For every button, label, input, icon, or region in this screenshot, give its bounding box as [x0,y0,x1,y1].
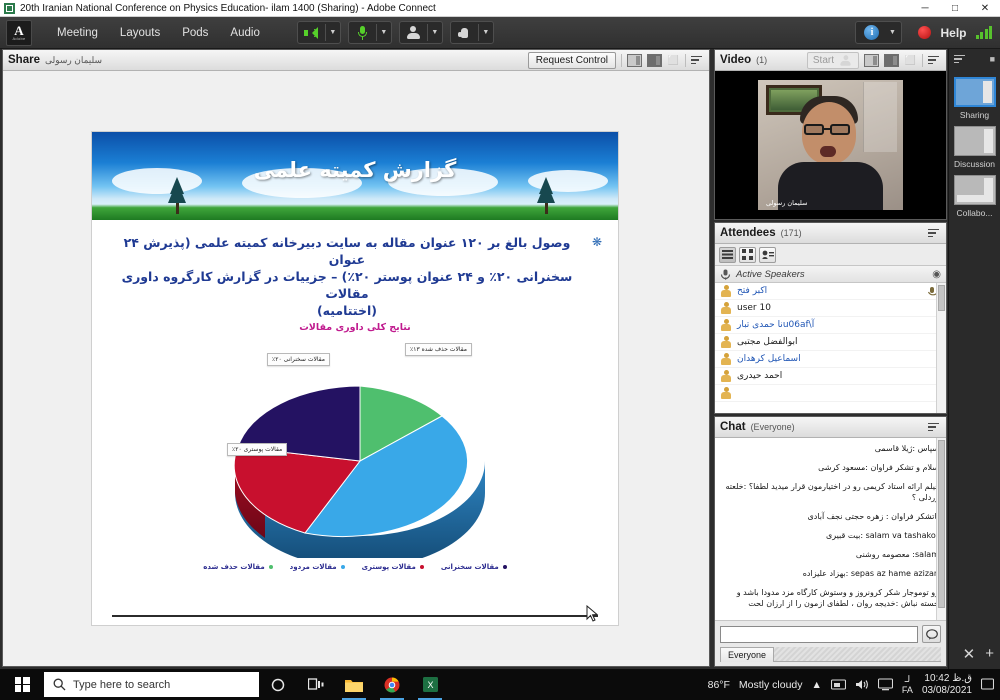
share-pod-header-controls: Request Control ⬜ [528,52,704,69]
layout-rail: ■ Sharing Discussion Collabo... ✕ + [948,49,1000,669]
chat-input-row [720,625,941,643]
menu-pods[interactable]: Pods [171,22,219,44]
search-placeholder: Type here to search [73,679,170,691]
chat-pod-header-controls [928,421,941,434]
window-title: 20th Iranian National Conference on Phys… [20,3,910,14]
close-icon[interactable]: ◉ [932,269,941,280]
attendees-pod-title: Attendees [720,227,776,239]
clock-date: 03/08/2021 [922,685,972,697]
start-camera-button[interactable]: Start [807,52,859,69]
attendee-name: user 10 [737,303,771,313]
share-pod-menu-icon[interactable] [691,54,704,67]
action-center-icon[interactable] [981,678,994,691]
attendees-toolbar [715,244,946,266]
chat-message: باتشکر فراوان : زهره حجتی نجف آبادی [722,511,939,522]
microphone-icon [720,269,731,280]
layout-label: Discussion [954,159,996,169]
participant-icon [721,353,731,365]
chart-caption: نتایج کلی داوری مقالات [108,322,602,333]
list-item[interactable]: آ\u06afنا حمدی تبار [715,317,946,334]
close-button[interactable]: ✕ [970,0,1000,17]
chat-message: فیلم ارائه استاد کریمی رو در اختیارمون ق… [722,481,939,503]
camera-dropdown-chevron-down-icon[interactable]: ▼ [428,22,442,43]
attendee-name: احمد حیدری [737,371,782,381]
chat-tab-strip: Everyone [720,647,941,662]
video-pod: Video (1) Start ⬜ [714,49,947,220]
minimize-button[interactable]: ─ [910,0,940,17]
participant-icon [721,285,731,297]
chat-message-list[interactable]: سپاس :ژیلا قاسمی سلام و تشکر فراوان :مسع… [715,438,946,620]
chat-pod-title: Chat [720,421,746,433]
status-view-icon[interactable] [759,247,776,263]
keyboard-layout-indicator[interactable]: لـ FA [902,674,913,696]
file-explorer-icon[interactable] [335,669,373,700]
start-camera-label: Start [813,55,834,66]
chat-message: sepas az hame azizan :بهزاد علیزاده [722,568,939,579]
adobe-connect-window: 20th Iranian National Conference on Phys… [0,0,1000,700]
layout-label: Collabo... [954,208,996,218]
layout-item-sharing[interactable]: Sharing [954,77,996,120]
list-item[interactable]: ابوالفضل مجتبی [715,334,946,351]
slide-bullet-text: وصول بالغ بر ۱۲۰ عنوان مقاله به سایت دبی… [108,234,586,319]
microphone-button[interactable] [349,22,376,43]
adobe-logo-icon: A Adobe [6,20,32,46]
slide-bullet: ❋ وصول بالغ بر ۱۲۰ عنوان مقاله به سایت د… [108,234,602,319]
excel-icon[interactable]: X [411,669,449,700]
chat-pod: Chat (Everyone) سپاس :ژیلا قاسمی سلام و … [714,416,947,667]
help-menu[interactable]: Help [940,26,966,40]
chat-input[interactable] [720,626,918,643]
bullet-line-1: وصول بالغ بر ۱۲۰ عنوان مقاله به سایت دبی… [108,234,586,268]
video-pod-header-controls: Start ⬜ [807,52,941,69]
menu-bar-right-group: i ▼ Help [855,21,992,44]
fit-width-icon[interactable] [627,54,642,67]
chart-legend: مقالات سخنرانی مقالات پوستری مقالات مردو… [92,563,618,571]
fullscreen-icon[interactable]: ⬜ [667,54,680,67]
active-speakers-label: Active Speakers [736,269,805,280]
webcam-icon [840,55,852,65]
volume-icon[interactable] [855,678,869,691]
legend-item-poster: مقالات پوستری [362,563,424,571]
grid-view-icon[interactable] [864,54,879,67]
info-button[interactable]: i [858,22,885,43]
start-button[interactable] [0,669,44,700]
list-item[interactable] [715,385,946,402]
fullscreen-icon[interactable]: ⬜ [904,54,917,67]
attendees-list[interactable]: اکبر فتح user 10 آ\u06afنا حمدی تبار ابو… [715,283,946,413]
onedrive-icon[interactable] [831,679,846,690]
network-icon[interactable] [878,678,893,691]
grid-view-icon[interactable] [739,247,756,263]
app-icon [4,3,15,14]
list-item[interactable]: اسماعیل کرهدان [715,351,946,368]
connection-status-icon[interactable] [976,26,993,39]
participant-icon [721,336,731,348]
legend-item-removed: مقالات حذف شده [203,563,272,571]
video-pod-title: Video [720,54,751,66]
close-rail-icon[interactable]: ■ [990,54,995,64]
active-speakers-bar: Active Speakers ◉ [715,266,946,283]
participant-icon [721,370,731,382]
webcam-icon [406,26,421,39]
info-icon: i [864,25,879,40]
share-pod: Share سلیمان رسولی Request Control ⬜ [2,49,710,667]
send-message-button[interactable] [922,625,941,643]
chat-message: سپاس :ژیلا قاسمی [722,443,939,454]
speaker-dropdown-chevron-down-icon[interactable]: ▼ [326,22,340,43]
raise-hand-control-group: ▼ [450,21,494,44]
camera-button[interactable] [400,22,427,43]
legend-label: مقالات مردود [290,563,337,571]
attendee-name: ابوالفضل مجتبی [737,337,798,347]
webcam-feed: سلیمان رسولی [758,80,903,210]
clock-time: 10:42 ق.ظ [922,673,972,685]
layout-item-discussion[interactable]: Discussion [954,126,996,169]
layout-thumbnail [954,126,996,156]
windows-logo-icon [15,677,30,692]
microphone-control-group: ▼ [348,21,392,44]
attendee-name: اسماعیل کرهدان [737,354,801,364]
menu-layouts[interactable]: Layouts [109,22,171,44]
video-pod-count: (1) [756,55,767,65]
pie-label-poster: مقالات پوستری ۲۰٪ [227,443,287,456]
bullet-line-3: (اختتامیه) [108,302,586,319]
participant-icon [721,319,731,331]
video-speaker-name: سلیمان رسولی [766,199,807,207]
info-dropdown-chevron-down-icon[interactable]: ▼ [885,22,899,43]
layout-thumbnail [954,175,996,205]
layout-rail-menu-icon[interactable] [954,53,967,66]
microphone-icon [358,26,367,40]
window-title-bar: 20th Iranian National Conference on Phys… [0,0,1000,17]
layout-label: Sharing [954,110,996,120]
microphone-dropdown-chevron-down-icon[interactable]: ▼ [377,22,391,43]
window-controls: ─ □ ✕ [910,0,1000,17]
list-item[interactable]: احمد حیدری [715,368,946,385]
layout-rail-header: ■ [949,49,1000,69]
pie-chart-graphic: مقالات حذف شده ۱۳٪ مقالات پوستری ۲۰٪ مقا… [205,343,505,558]
speaker-button[interactable] [298,22,325,43]
share-pod-title: Share [8,54,40,66]
cortana-icon[interactable] [259,669,297,700]
pie-label-removed: مقالات حذف شده ۱۳٪ [405,343,472,356]
chat-message: رو توموجار شکر کرونروز و وستوش کارگاه مز… [722,587,939,609]
legend-item-rejected: مقالات مردود [290,563,345,571]
attendee-name: آ\u06afنا حمدی تبار [737,320,814,330]
menu-audio[interactable]: Audio [219,22,270,44]
bullet-marker-icon: ❋ [592,234,602,250]
connect-menu-bar: A Adobe Meeting Layouts Pods Audio ▼ ▼ [0,17,1000,49]
video-pod-header: Video (1) Start ⬜ [715,50,946,71]
scrollbar-thumb[interactable] [938,285,945,311]
close-layout-icon[interactable]: ✕ [963,645,976,663]
pie-chart: مقالات حذف شده ۱۳٪ مقالات پوستری ۲۰٪ مقا… [92,335,618,585]
presentation-slide[interactable]: گزارش کمیته علمی ❋ وصول بالغ بر ۱۲۰ عنوا… [91,131,619,626]
raise-hand-button[interactable] [451,22,478,43]
search-input[interactable]: Type here to search [44,672,259,697]
layout-item-collaboration[interactable]: Collabo... [954,175,996,218]
scrollbar-thumb[interactable] [938,440,945,608]
legend-label: مقالات سخنرانی [441,563,499,571]
attendee-name: اکبر فتح [737,286,767,296]
list-item[interactable]: اکبر فتح [715,283,946,300]
maximize-button[interactable]: □ [940,0,970,17]
layout-rail-actions: ✕ + [963,645,994,663]
participant-icon [721,302,731,314]
attendees-pod: Attendees (171) [714,222,947,414]
mouse-cursor-icon [586,605,600,623]
menu-meeting[interactable]: Meeting [46,22,109,44]
windows-taskbar: Type here to search X 86°F Mostly cloudy… [0,669,1000,700]
speaker-control-group: ▼ [297,21,341,44]
attendees-pod-header: Attendees (171) [715,223,946,244]
legend-item-oral: مقالات سخنرانی [441,563,507,571]
keyboard-layout-native: لـ [902,674,913,685]
filmstrip-view-icon[interactable] [884,54,899,67]
list-item[interactable]: user 10 [715,300,946,317]
slide-divider [112,615,598,617]
chat-footer: Everyone [715,620,946,666]
attendees-scrollbar[interactable] [936,283,946,413]
svg-text:X: X [427,680,433,690]
share-pod-body: گزارش کمیته علمی ❋ وصول بالغ بر ۱۲۰ عنوا… [3,71,709,666]
raise-hand-dropdown-chevron-down-icon[interactable]: ▼ [479,22,493,43]
chat-message: salam: معصومه روشنی [722,549,939,560]
clock[interactable]: 10:42 ق.ظ 03/08/2021 [922,673,972,697]
tray-expand-chevron-up-icon[interactable]: ▲ [812,679,822,691]
legend-label: مقالات حذف شده [203,563,264,571]
video-pod-body[interactable]: سلیمان رسولی [715,71,946,219]
raise-hand-icon [458,26,471,40]
chat-scope: (Everyone) [751,422,795,432]
chat-message: salam va tashakor :بیت قبیری [722,530,939,541]
attendees-pod-header-controls [928,227,941,240]
chat-message: سلام و تشکر فراوان :مسعود کرشی [722,462,939,473]
camera-control-group: ▼ [399,21,443,44]
system-tray: 86°F Mostly cloudy ▲ لـ FA 10:42 ق.ظ [708,673,1000,697]
bullet-line-2: سخنرانی ۲۰٪ و ۲۴ عنوان پوستر ۲۰٪) – جزیی… [108,268,586,302]
chat-pod-menu-icon[interactable] [928,421,941,434]
meeting-info-group: i ▼ [855,21,902,44]
task-view-icon[interactable] [297,669,335,700]
speaker-icon [304,27,318,39]
recording-indicator-icon[interactable] [918,26,931,39]
list-view-icon[interactable] [719,247,736,263]
tab-everyone[interactable]: Everyone [720,647,774,662]
add-layout-icon[interactable]: + [985,645,994,663]
participant-icon [721,387,731,399]
legend-label: مقالات پوستری [362,563,416,571]
chat-scrollbar[interactable] [936,438,946,620]
slide-title: گزارش کمیته علمی [92,158,618,182]
request-control-button[interactable]: Request Control [528,52,616,69]
adobe-logo-letter: A [14,25,23,36]
weather-temp[interactable]: 86°F [708,679,730,691]
chat-pod-header: Chat (Everyone) [715,417,946,438]
meeting-stage: Share سلیمان رسولی Request Control ⬜ [0,49,1000,669]
keyboard-layout-code: FA [902,685,913,696]
layout-thumbnail [954,77,996,107]
attendees-count: (171) [781,228,802,238]
pie-label-oral: مقالات سخنرانی ۲۰٪ [267,353,330,366]
share-pod-header: Share سلیمان رسولی Request Control ⬜ [3,50,709,71]
weather-desc[interactable]: Mostly cloudy [739,679,803,691]
fit-page-icon[interactable] [647,54,662,67]
video-pod-menu-icon[interactable] [928,54,941,67]
chat-bubble-icon [926,629,938,640]
share-pod-presenter: سلیمان رسولی [45,55,102,66]
attendees-pod-menu-icon[interactable] [928,227,941,240]
adobe-logo-word: Adobe [12,36,25,41]
chrome-icon[interactable] [373,669,411,700]
slide-body: ❋ وصول بالغ بر ۱۲۰ عنوان مقاله به سایت د… [92,220,618,333]
search-icon [53,678,66,691]
slide-banner: گزارش کمیته علمی [92,132,618,220]
